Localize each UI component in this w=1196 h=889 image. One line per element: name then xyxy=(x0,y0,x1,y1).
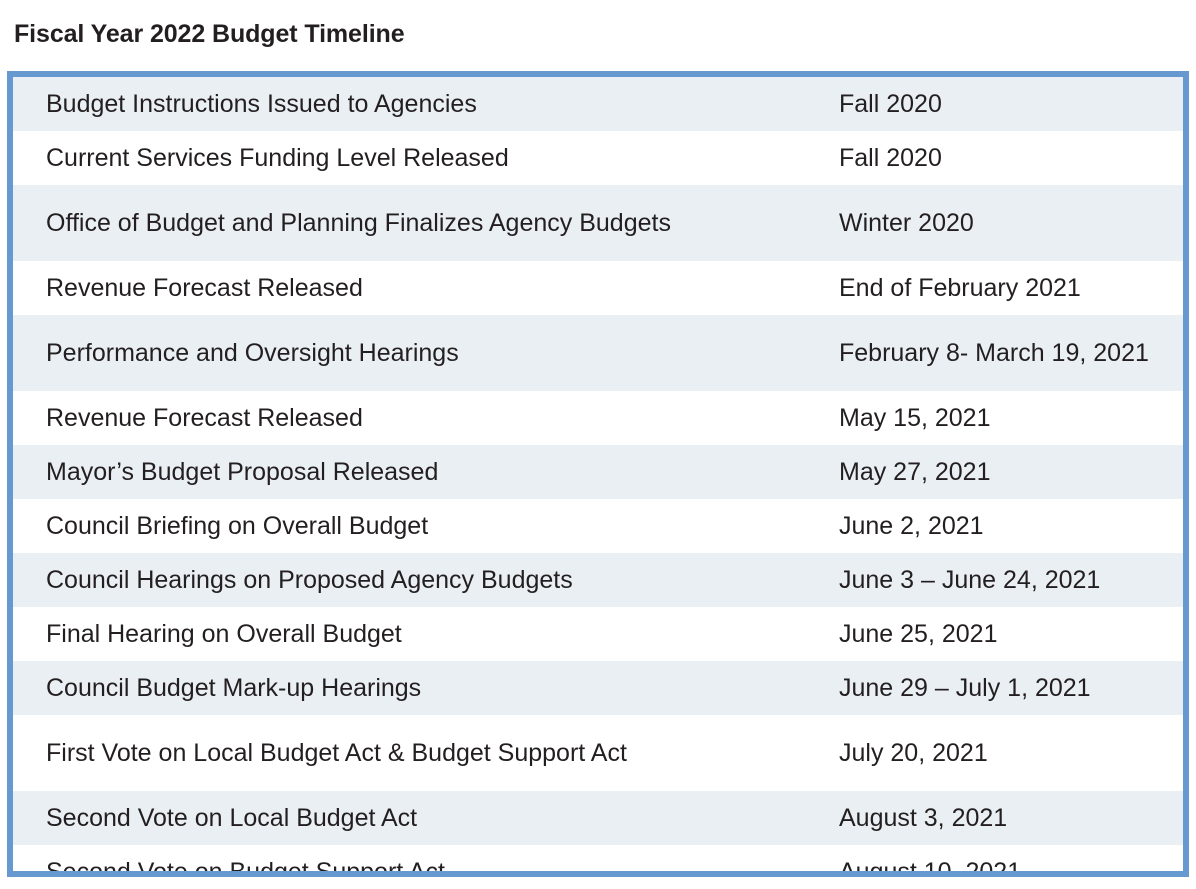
timeline-event-cell: Revenue Forecast Released xyxy=(13,261,813,315)
table-row: Revenue Forecast ReleasedMay 15, 2021 xyxy=(13,391,1183,445)
timeline-event-cell: Second Vote on Local Budget Act xyxy=(13,791,813,845)
table-row: First Vote on Local Budget Act & Budget … xyxy=(13,715,1183,791)
timeline-event-cell: Office of Budget and Planning Finalizes … xyxy=(13,185,813,261)
timeline-date-cell: Fall 2020 xyxy=(813,77,1183,131)
timeline-date-cell: June 29 – July 1, 2021 xyxy=(813,661,1183,715)
timeline-event-cell: Final Hearing on Overall Budget xyxy=(13,607,813,661)
table-row: Council Hearings on Proposed Agency Budg… xyxy=(13,553,1183,607)
timeline-date-cell: May 15, 2021 xyxy=(813,391,1183,445)
timeline-date-cell: July 20, 2021 xyxy=(813,715,1183,791)
timeline-date-cell: August 10, 2021 xyxy=(813,845,1183,877)
table-row: Performance and Oversight HearingsFebrua… xyxy=(13,315,1183,391)
timeline-date-cell: June 25, 2021 xyxy=(813,607,1183,661)
table-row: Second Vote on Local Budget ActAugust 3,… xyxy=(13,791,1183,845)
timeline-rows: Budget Instructions Issued to AgenciesFa… xyxy=(13,77,1183,877)
timeline-date-cell: June 2, 2021 xyxy=(813,499,1183,553)
table-row: Final Hearing on Overall BudgetJune 25, … xyxy=(13,607,1183,661)
timeline-event-cell: Revenue Forecast Released xyxy=(13,391,813,445)
timeline-date-cell: June 3 – June 24, 2021 xyxy=(813,553,1183,607)
table-row: Current Services Funding Level ReleasedF… xyxy=(13,131,1183,185)
timeline-event-cell: Performance and Oversight Hearings xyxy=(13,315,813,391)
budget-timeline-table-container: Budget Instructions Issued to AgenciesFa… xyxy=(7,71,1189,877)
page-title: Fiscal Year 2022 Budget Timeline xyxy=(14,20,405,49)
timeline-date-cell: August 3, 2021 xyxy=(813,791,1183,845)
timeline-date-cell: May 27, 2021 xyxy=(813,445,1183,499)
timeline-event-cell: Council Hearings on Proposed Agency Budg… xyxy=(13,553,813,607)
page-root: Fiscal Year 2022 Budget Timeline Budget … xyxy=(0,0,1196,889)
timeline-date-cell: Fall 2020 xyxy=(813,131,1183,185)
table-row: Budget Instructions Issued to AgenciesFa… xyxy=(13,77,1183,131)
table-row: Second Vote on Budget Support ActAugust … xyxy=(13,845,1183,877)
table-row: Council Briefing on Overall BudgetJune 2… xyxy=(13,499,1183,553)
timeline-event-cell: Budget Instructions Issued to Agencies xyxy=(13,77,813,131)
timeline-date-cell: Winter 2020 xyxy=(813,185,1183,261)
timeline-event-cell: Second Vote on Budget Support Act xyxy=(13,845,813,877)
timeline-event-cell: Council Briefing on Overall Budget xyxy=(13,499,813,553)
table-row: Revenue Forecast ReleasedEnd of February… xyxy=(13,261,1183,315)
table-row: Mayor’s Budget Proposal ReleasedMay 27, … xyxy=(13,445,1183,499)
timeline-event-cell: Mayor’s Budget Proposal Released xyxy=(13,445,813,499)
budget-timeline-table: Budget Instructions Issued to AgenciesFa… xyxy=(13,77,1183,877)
timeline-event-cell: Current Services Funding Level Released xyxy=(13,131,813,185)
timeline-event-cell: Council Budget Mark-up Hearings xyxy=(13,661,813,715)
table-row: Office of Budget and Planning Finalizes … xyxy=(13,185,1183,261)
timeline-date-cell: February 8- March 19, 2021 xyxy=(813,315,1183,391)
table-row: Council Budget Mark-up HearingsJune 29 –… xyxy=(13,661,1183,715)
timeline-event-cell: First Vote on Local Budget Act & Budget … xyxy=(13,715,813,791)
timeline-date-cell: End of February 2021 xyxy=(813,261,1183,315)
